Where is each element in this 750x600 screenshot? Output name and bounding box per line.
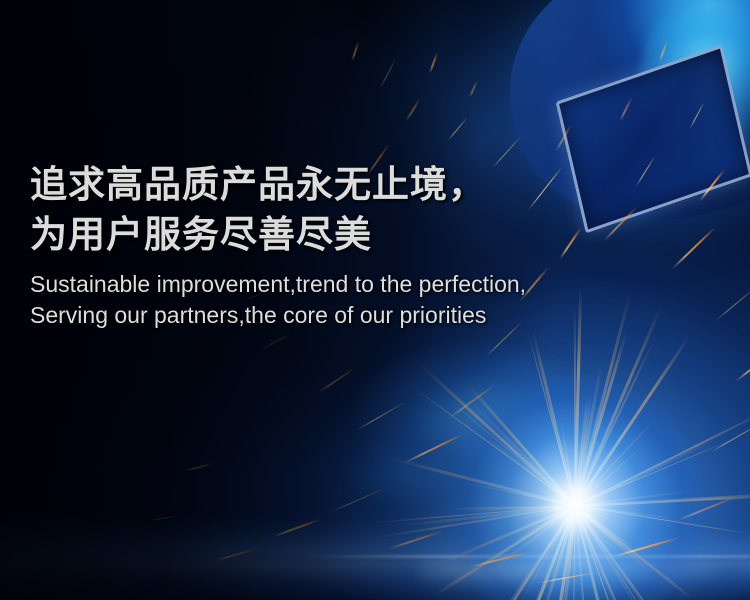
headline-block: 追求高品质产品永无止境， 为用户服务尽善尽美 Sustainable impro… <box>30 160 720 331</box>
spark <box>405 98 420 121</box>
spark <box>716 287 750 321</box>
subhead-en-line-1: Sustainable improvement,trend to the per… <box>30 269 720 300</box>
spark <box>469 80 479 97</box>
spark <box>351 42 359 62</box>
spark <box>448 117 468 141</box>
headline-cn-line-2: 为用户服务尽善尽美 <box>30 210 720 260</box>
spark <box>380 58 397 88</box>
spark <box>184 463 214 473</box>
spark <box>429 52 439 73</box>
hero-banner: 追求高品质产品永无止境， 为用户服务尽善尽美 Sustainable impro… <box>0 0 750 600</box>
subhead-en-line-2: Serving our partners,the core of our pri… <box>30 300 720 331</box>
spark <box>262 332 293 349</box>
subhead-block: Sustainable improvement,trend to the per… <box>30 269 720 331</box>
headline-cn-line-1: 追求高品质产品永无止境， <box>30 160 720 210</box>
